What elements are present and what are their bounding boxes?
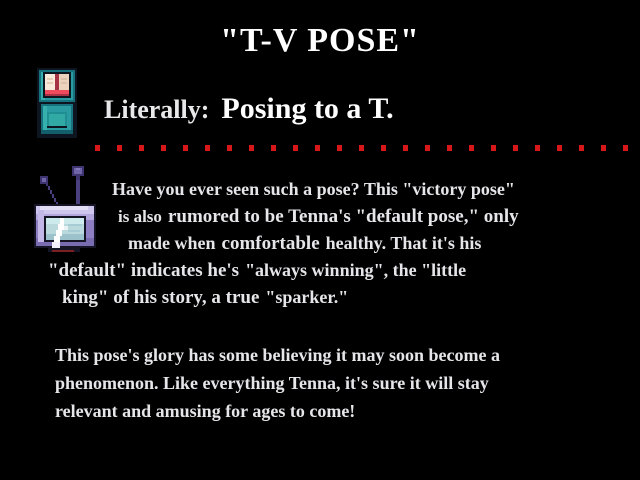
text-run: This pose's glory has some believing it … [55, 345, 500, 365]
text-line: relevant and amusing for ages to come! [55, 397, 635, 425]
divider-dot [337, 145, 342, 151]
text-run: is also [118, 207, 162, 226]
page-title: "T-V POSE" [0, 24, 640, 58]
divider-dot [249, 145, 254, 151]
divider-dot [381, 145, 386, 151]
divider-dot [403, 145, 408, 151]
text-run: "always winning", the "little [245, 260, 466, 280]
text-line: "default" indicates he's"always winning"… [44, 257, 624, 284]
book-icon [33, 68, 81, 138]
text-line: made whencomfortablehealthy. That it's h… [44, 230, 624, 257]
divider-dot [623, 145, 628, 151]
divider-dot [271, 145, 276, 151]
divider-dot [205, 145, 210, 151]
paragraph-one: Have you ever seen such a pose? This "vi… [44, 176, 624, 311]
text-line: This pose's glory has some believing it … [55, 341, 635, 369]
divider-dot [183, 145, 188, 151]
divider-dot [161, 145, 166, 151]
text-run: Have you ever seen such a pose? This "vi… [112, 179, 515, 199]
divider-dot [469, 145, 474, 151]
tv-pose-card: "T-V POSE" [0, 0, 640, 480]
divider-dot [447, 145, 452, 151]
divider-dot [535, 145, 540, 151]
text-line: is alsorumored to be Tenna's "default po… [44, 203, 624, 230]
divider-dot [491, 145, 496, 151]
text-line: Have you ever seen such a pose? This "vi… [44, 176, 624, 203]
text-run: "default" indicates he's [48, 260, 239, 281]
subtitle-definition: Posing to a T. [221, 92, 393, 125]
divider-dot [227, 145, 232, 151]
divider-dot [315, 145, 320, 151]
text-run: "sparker." [265, 287, 348, 307]
paragraph-two: This pose's glory has some believing it … [55, 341, 635, 425]
text-line: king" of his story, a true"sparker." [44, 284, 624, 311]
text-run: made when [128, 233, 216, 253]
divider-dot [513, 145, 518, 151]
dotted-divider [95, 145, 635, 152]
divider-dot [579, 145, 584, 151]
text-run: relevant and amusing for ages to come! [55, 401, 355, 421]
divider-dot [601, 145, 606, 151]
divider-dot [359, 145, 364, 151]
text-run: rumored to be Tenna's "default pose," on… [168, 206, 519, 227]
text-run: comfortable [222, 233, 320, 254]
divider-dot [293, 145, 298, 151]
subtitle: Literally:Posing to a T. [104, 94, 394, 124]
divider-dot [139, 145, 144, 151]
divider-dot [557, 145, 562, 151]
text-run: phenomenon. Like everything Tenna, it's … [55, 373, 489, 393]
divider-dot [95, 145, 100, 151]
text-line: phenomenon. Like everything Tenna, it's … [55, 369, 635, 397]
divider-dot [117, 145, 122, 151]
text-run: king" of his story, a true [62, 287, 259, 308]
text-run: healthy. That it's his [326, 233, 482, 253]
subtitle-label: Literally: [104, 95, 209, 124]
divider-dot [425, 145, 430, 151]
